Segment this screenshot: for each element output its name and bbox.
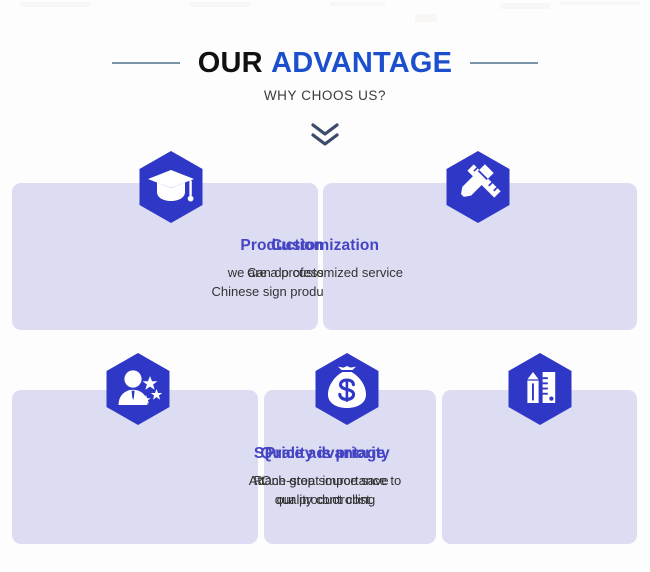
scan-artifact (560, 1, 640, 5)
user-stars-icon (105, 352, 171, 426)
pencil-ruler-cross-icon (445, 150, 511, 224)
graduation-cap-icon (138, 150, 204, 224)
card-title: Customization (10, 236, 640, 256)
card-title: Quality is priority (10, 444, 640, 464)
card-description-line: Can do customized service (10, 263, 640, 282)
card-description-line: quality controlling (10, 490, 640, 509)
scan-artifact (20, 2, 90, 7)
rule-left-decoration (112, 62, 180, 64)
title-row: OUR ADVANTAGE (0, 46, 650, 80)
section-header: OUR ADVANTAGE WHY CHOOS US? (0, 46, 650, 103)
scan-artifact (500, 3, 550, 9)
page-title: OUR ADVANTAGE (198, 46, 452, 80)
card-description: Attach great importance to quality contr… (10, 471, 640, 509)
advantage-section: OUR ADVANTAGE WHY CHOOS US? Product (0, 0, 650, 572)
scroll-hint (0, 122, 650, 153)
chevron-double-down-icon (310, 135, 340, 152)
rule-right-decoration (470, 62, 538, 64)
advantage-card-customization-body: Customization Can do customized service (0, 236, 650, 282)
page-title-part-1: OUR (198, 47, 263, 79)
scan-artifact (330, 2, 385, 6)
page-title-part-2: ADVANTAGE (271, 47, 452, 79)
page-subtitle: WHY CHOOS US? (0, 88, 650, 103)
advantage-card-quality-body: Quality is priority Attach great importa… (0, 444, 650, 509)
pencil-ruler-icon (507, 352, 573, 426)
card-description-line: Attach great importance to (10, 471, 640, 490)
money-bag-dollar-icon (314, 352, 380, 426)
scan-artifact (190, 2, 250, 7)
card-description: Can do customized service (10, 263, 640, 282)
scan-artifact (415, 14, 437, 22)
